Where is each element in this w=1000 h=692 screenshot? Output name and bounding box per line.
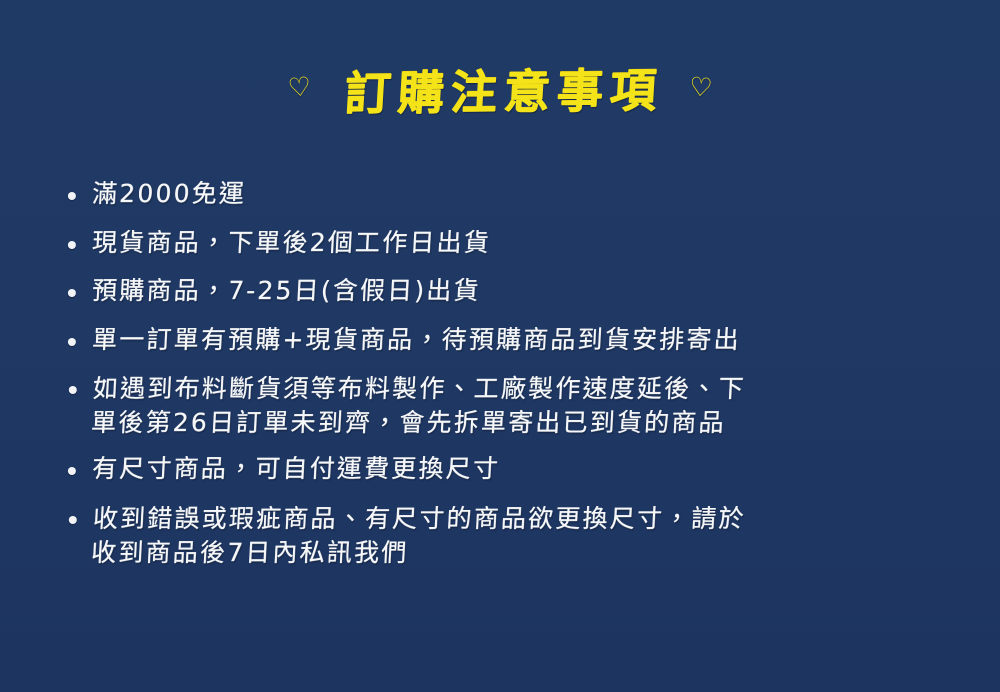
heart-icon: ♡ [287,74,313,102]
heart-icon: ♡ [687,74,712,102]
notice-item-free-shipping: 滿2000免運 [61,178,963,211]
page-title: 訂購注意事項 [336,64,664,120]
notice-item-fabric-delay: 如遇到布料斷貨須等布料製作、工廠製作速度延後、下 單後第26日訂單未到齊，會先拆… [60,372,964,439]
notice-item-preorder-shipping: 預購商品，7-25日(含假日)出貨 [61,275,963,308]
notice-list: 滿2000免運 現貨商品，下單後2個工作日出貨 預購商品，7-25日(含假日)出… [62,178,962,583]
poster-title: ♡ 訂購注意事項 ♡ [0,66,1000,119]
notice-item-mixed-order: 單一訂單有預購+現貨商品，待預購商品到貨安排寄出 [61,324,963,357]
notice-item-in-stock-shipping: 現貨商品，下單後2個工作日出貨 [61,227,963,260]
notice-poster: ♡ 訂購注意事項 ♡ 滿2000免運 現貨商品，下單後2個工作日出貨 預購商品，… [0,0,1000,692]
notice-item-size-exchange: 有尺寸商品，可自付運費更換尺寸 [61,453,963,486]
notice-item-defect-return-window: 收到錯誤或瑕疵商品、有尺寸的商品欲更換尺寸，請於 收到商品後7日內私訊我們 [60,502,964,569]
